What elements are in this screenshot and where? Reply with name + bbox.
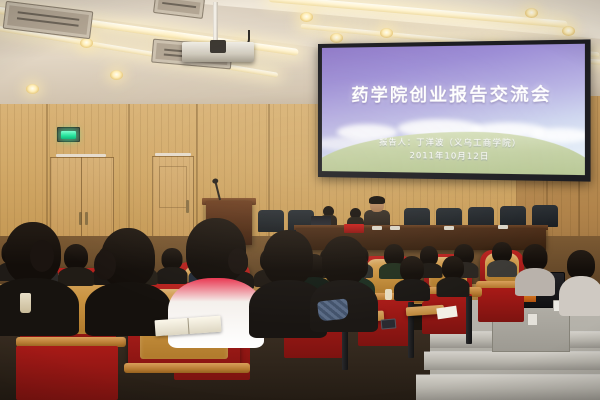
door-handle[interactable] (85, 212, 88, 225)
projection-screen: 药学院创业报告交流会 报告人：丁洋波（义乌工商学院） 2011年10月12日 (322, 44, 585, 175)
recessed-downlight (562, 26, 575, 36)
lecture-hall-scene: 药学院创业报告交流会 报告人：丁洋波（义乌工商学院） 2011年10月12日 (0, 0, 600, 400)
recessed-downlight (300, 12, 313, 22)
stage-chair (258, 210, 284, 232)
aisle-step (424, 352, 600, 370)
recessed-downlight (330, 33, 343, 43)
auditorium-seat-base (16, 346, 118, 400)
projector-lens (210, 40, 226, 53)
audience-member (62, 244, 90, 280)
door-header-trim (155, 153, 191, 156)
audience-member (440, 256, 466, 294)
audience-member (564, 250, 598, 310)
audience-member-foreground (96, 228, 160, 324)
exit-sign-lamp (61, 131, 76, 139)
seat-leg (466, 296, 472, 344)
paper-cup (20, 293, 31, 313)
table-microphone (498, 225, 508, 229)
plaid-bag (317, 298, 349, 321)
audience-member (520, 244, 550, 288)
recessed-downlight (525, 8, 538, 18)
red-name-card (344, 224, 364, 233)
recessed-downlight (110, 70, 123, 80)
recessed-downlight (80, 38, 93, 48)
projection-screen-frame: 药学院创业报告交流会 报告人：丁洋波（义乌工商学院） 2011年10月12日 (318, 39, 591, 181)
table-microphone (444, 226, 454, 230)
audience-member (398, 256, 426, 296)
audience-member (490, 242, 514, 272)
projector-mount-pole (213, 2, 218, 44)
stage-chair (532, 205, 558, 227)
table-microphone (372, 226, 382, 230)
cabinet-outlet[interactable] (527, 313, 538, 326)
mobile-phone (381, 318, 397, 329)
table-microphone (390, 226, 400, 230)
aisle-step (416, 375, 600, 400)
slide-title: 药学院创业报告交流会 (322, 79, 585, 106)
recessed-downlight (380, 28, 393, 38)
door-handle[interactable] (186, 200, 189, 213)
exit-sign (57, 127, 80, 142)
door-recessed-panel (159, 166, 187, 208)
audience-member-foreground (0, 222, 66, 326)
audience-member-foreground (258, 230, 318, 330)
recessed-downlight (26, 84, 39, 94)
door-center-seam (81, 157, 82, 243)
